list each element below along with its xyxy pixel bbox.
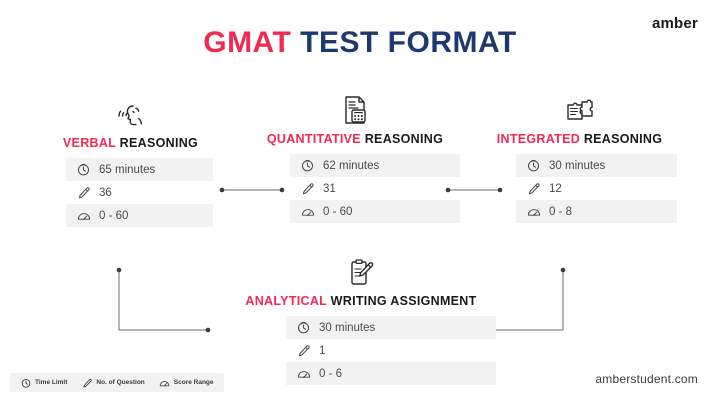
stat-value: 30 minutes: [549, 160, 605, 172]
stat-rows-verbal: 65 minutes 36: [66, 158, 213, 227]
section-title-accent: INTEGRATED: [497, 132, 580, 146]
section-title-rest: REASONING: [584, 132, 662, 146]
stat-row-time-limit: 30 minutes: [286, 316, 496, 339]
pencil-icon: [76, 185, 91, 200]
stat-value: 0 - 60: [99, 210, 128, 222]
section-title-analytical: ANALYTICAL WRITING ASSIGNMENT: [226, 294, 496, 308]
clock-icon: [296, 320, 311, 335]
page-title-rest: TEST FORMAT: [300, 26, 517, 59]
page-title-accent: GMAT: [203, 26, 291, 59]
gauge-icon: [300, 204, 315, 219]
pencil-icon: [300, 181, 315, 196]
section-title-rest: REASONING: [365, 132, 443, 146]
stat-row-score-range: 0 - 8: [516, 200, 677, 223]
stat-row-question-count: 1: [286, 339, 496, 362]
pencil-icon: [81, 377, 92, 388]
legend-item-question-count: No. of Question: [81, 377, 144, 388]
clock-icon: [20, 377, 31, 388]
section-title-rest: WRITING ASSIGNMENT: [331, 294, 477, 308]
section-title-accent: ANALYTICAL: [245, 294, 326, 308]
pencil-icon: [296, 343, 311, 358]
stat-value: 30 minutes: [319, 322, 375, 334]
legend-label: Score Range: [174, 379, 214, 386]
stat-value: 62 minutes: [323, 160, 379, 172]
pencil-icon: [526, 181, 541, 196]
gauge-icon: [76, 208, 91, 223]
stat-rows-integrated: 30 minutes 12: [516, 154, 677, 223]
section-title-quantitative: QUANTITATIVE REASONING: [250, 132, 460, 146]
footer-website-url: amberstudent.com: [595, 372, 698, 386]
section-title-integrated: INTEGRATED REASONING: [482, 132, 677, 146]
stat-value: 0 - 8: [549, 206, 572, 218]
stat-row-time-limit: 30 minutes: [516, 154, 677, 177]
stat-value: 0 - 60: [323, 206, 352, 218]
stat-row-time-limit: 62 minutes: [290, 154, 460, 177]
infographic-canvas: GMAT TEST FORMAT amber amberstudent.com: [0, 0, 720, 404]
stat-row-time-limit: 65 minutes: [66, 158, 213, 181]
section-title-rest: REASONING: [120, 136, 198, 150]
stat-value: 31: [323, 183, 336, 195]
stat-value: 0 - 6: [319, 368, 342, 380]
clipboard-pen-icon: [226, 258, 496, 288]
legend-item-time-limit: Time Limit: [20, 377, 67, 388]
section-title-verbal: VERBAL REASONING: [48, 136, 213, 150]
section-quantitative-reasoning: QUANTITATIVE REASONING 62 minutes: [250, 96, 460, 223]
speaking-head-icon: [48, 100, 213, 130]
clock-icon: [76, 162, 91, 177]
gauge-icon: [526, 204, 541, 219]
page-title: GMAT TEST FORMAT: [0, 26, 720, 60]
stat-row-score-range: 0 - 6: [286, 362, 496, 385]
document-calculator-icon: [250, 96, 460, 126]
stat-value: 1: [319, 345, 325, 357]
stat-row-question-count: 31: [290, 177, 460, 200]
stat-value: 36: [99, 187, 112, 199]
stat-row-question-count: 36: [66, 181, 213, 204]
legend-label: No. of Question: [96, 379, 144, 386]
stat-rows-quantitative: 62 minutes 31: [290, 154, 460, 223]
gauge-icon: [159, 377, 170, 388]
legend-item-score-range: Score Range: [159, 377, 214, 388]
legend: Time Limit No. of Question Score Range: [10, 373, 224, 392]
stat-rows-analytical: 30 minutes 1: [286, 316, 496, 385]
gauge-icon: [296, 366, 311, 381]
stat-value: 65 minutes: [99, 164, 155, 176]
stat-value: 12: [549, 183, 562, 195]
section-analytical-writing-assignment: ANALYTICAL WRITING ASSIGNMENT 30 minutes: [226, 258, 496, 385]
section-verbal-reasoning: VERBAL REASONING 65 minutes: [48, 100, 213, 227]
stat-row-score-range: 0 - 60: [66, 204, 213, 227]
stat-row-score-range: 0 - 60: [290, 200, 460, 223]
stat-row-question-count: 12: [516, 177, 677, 200]
puzzle-pieces-icon: [482, 96, 677, 126]
clock-icon: [300, 158, 315, 173]
legend-label: Time Limit: [35, 379, 67, 386]
clock-icon: [526, 158, 541, 173]
brand-logo: amber: [652, 15, 698, 32]
section-title-accent: VERBAL: [63, 136, 116, 150]
section-integrated-reasoning: INTEGRATED REASONING 30 minutes: [482, 96, 677, 223]
section-title-accent: QUANTITATIVE: [267, 132, 361, 146]
